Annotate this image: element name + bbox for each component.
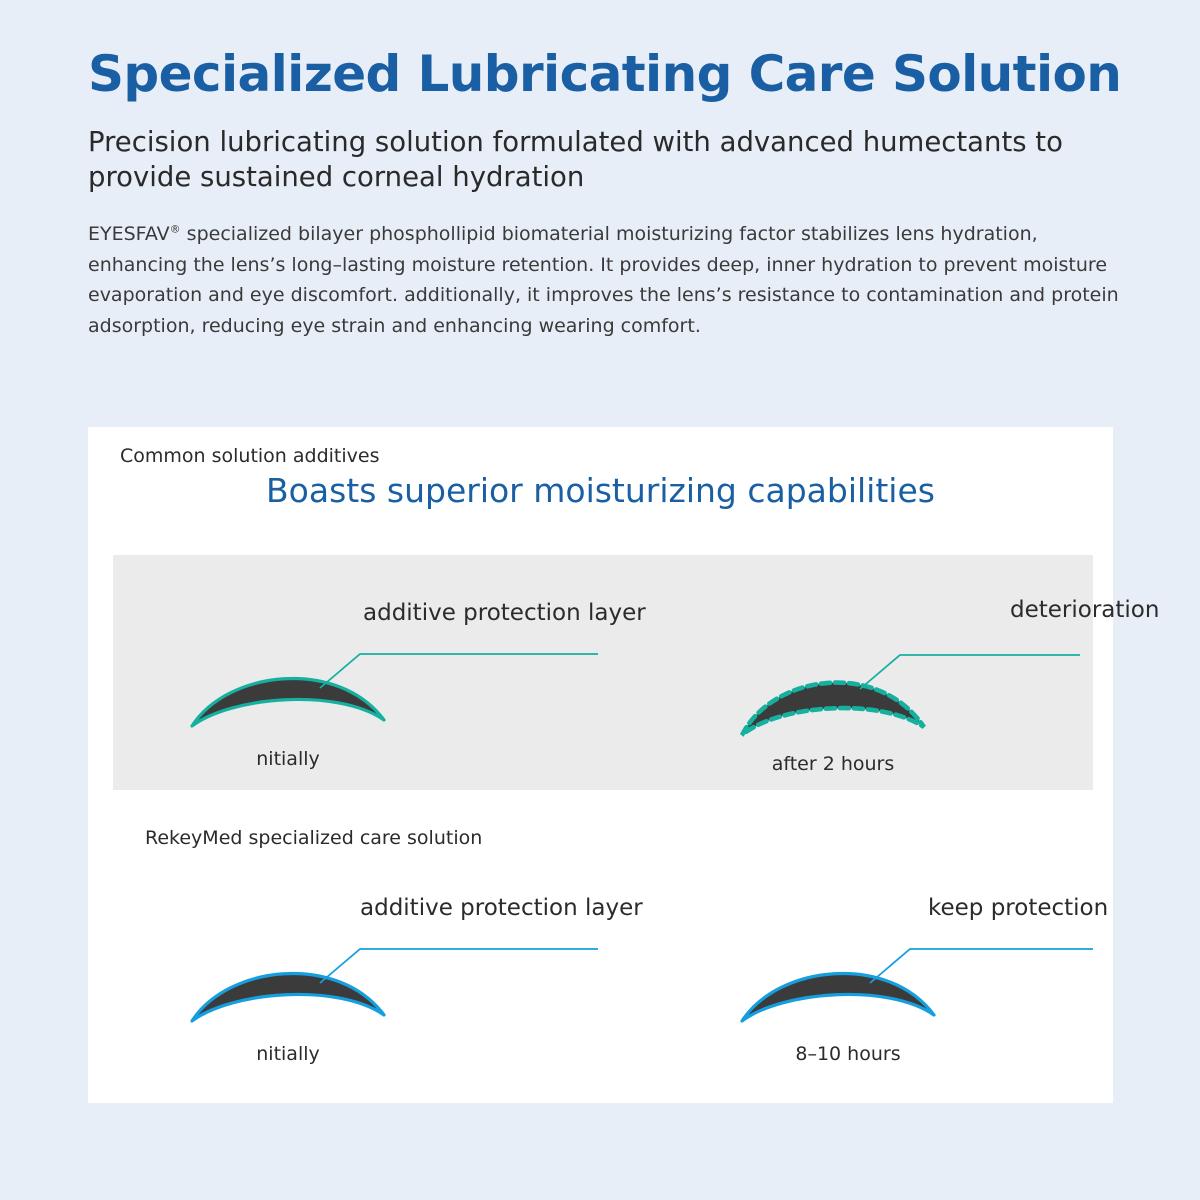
- common-additives-label: Common solution additives: [120, 445, 380, 467]
- brand-solution-label: RekeyMed specialized care solution: [145, 827, 482, 849]
- lens-figure-brand-maintained: keep protection 8–10 hours: [738, 957, 978, 1067]
- registered-trademark-icon: ®: [170, 223, 181, 236]
- callout-label-additive-protection-layer: additive protection layer: [360, 895, 643, 921]
- body-paragraph: EYESFAV® specialized bilayer phosphollip…: [88, 219, 1136, 342]
- lens-caption-initially: nitially: [188, 1043, 388, 1065]
- lens-caption-initially: nitially: [188, 748, 388, 770]
- lens-figure-common-degraded: deterioration after 2 hours: [738, 657, 968, 777]
- leader-path: [860, 655, 1080, 689]
- brand-name: EYESFAV: [88, 223, 170, 245]
- callout-leader-line-teal: [858, 627, 1088, 695]
- comparison-card: Boasts superior moisturizing capabilitie…: [88, 427, 1113, 1103]
- callout-leader-line-teal: [318, 630, 608, 694]
- callout-leader-line-blue: [318, 925, 608, 989]
- leader-path: [320, 654, 598, 688]
- page-title: Specialized Lubricating Care Solution: [88, 48, 1158, 101]
- leader-path: [320, 949, 598, 983]
- lens-figure-brand-initial: additive protection layer nitially: [188, 957, 428, 1067]
- page-subtitle: Precision lubricating solution formulate…: [88, 125, 1153, 195]
- callout-label-deterioration: deterioration: [1010, 597, 1159, 623]
- lens-caption-after-2-hours: after 2 hours: [733, 753, 933, 775]
- card-heading: Boasts superior moisturizing capabilitie…: [88, 471, 1113, 510]
- leader-path: [870, 949, 1093, 983]
- callout-label-keep-protection: keep protection: [928, 895, 1108, 921]
- callout-leader-line-blue: [868, 925, 1098, 989]
- lens-figure-common-initial: additive protection layer nitially: [188, 662, 428, 772]
- product-infographic-page: Specialized Lubricating Care Solution Pr…: [0, 0, 1200, 1200]
- header-block: Specialized Lubricating Care Solution Pr…: [88, 48, 1158, 342]
- body-paragraph-text: specialized bilayer phosphollipid biomat…: [88, 223, 1119, 337]
- callout-label-additive-protection-layer: additive protection layer: [363, 600, 646, 626]
- lens-caption-8-10-hours: 8–10 hours: [748, 1043, 948, 1065]
